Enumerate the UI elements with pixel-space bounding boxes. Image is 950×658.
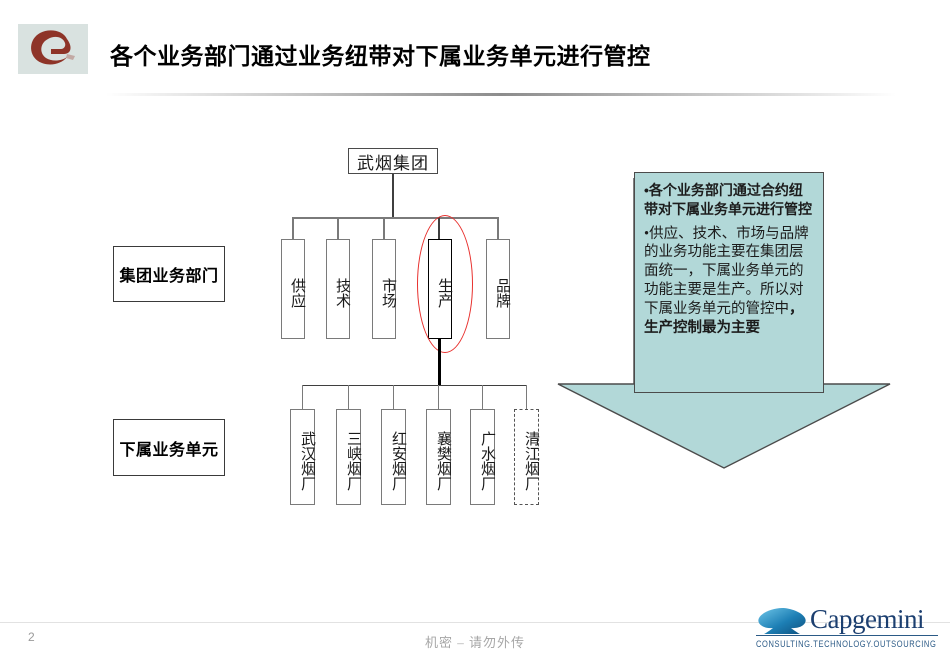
- org-node-jishu[interactable]: 技术: [326, 239, 350, 339]
- connector-drop-jishu: [337, 217, 339, 239]
- callout-bullet-2: •供应、技术、市场与品牌的业务功能主要在集团层面统一，下属业务单元的功能主要是生…: [644, 225, 814, 338]
- capgemini-logo-rule: [756, 635, 938, 636]
- capgemini-spade-icon: [754, 606, 810, 636]
- connector-level1-bus: [292, 217, 498, 219]
- org-node-xiangfan[interactable]: 襄樊烟厂: [426, 409, 451, 505]
- capgemini-footer-logo: Capgemini CONSULTING.TECHNOLOGY.OUTSOURC…: [754, 606, 940, 652]
- connector-drop-gongying: [292, 217, 294, 239]
- header-divider: [106, 93, 896, 96]
- org-node-wuhan[interactable]: 武汉烟厂: [290, 409, 315, 505]
- org-node-guangshui[interactable]: 广水烟厂: [470, 409, 495, 505]
- connector-drop-xiangfan: [438, 385, 439, 409]
- org-node-gongying[interactable]: 供应: [281, 239, 305, 339]
- org-node-sanxia[interactable]: 三峡烟厂: [336, 409, 361, 505]
- connector-level2-bus: [302, 385, 527, 386]
- org-node-shichang[interactable]: 市场: [372, 239, 396, 339]
- org-node-shengchan[interactable]: 生产: [428, 239, 452, 339]
- connector-drop-pinpai: [497, 217, 499, 239]
- org-node-root[interactable]: 武烟集团: [348, 148, 438, 174]
- connector-drop-qingjiang: [526, 385, 527, 409]
- org-node-hongan[interactable]: 红安烟厂: [381, 409, 406, 505]
- org-node-pinpai[interactable]: 品牌: [486, 239, 510, 339]
- connector-drop-sanxia: [348, 385, 349, 409]
- connector-drop-guangshui: [482, 385, 483, 409]
- row-label-business-units[interactable]: 下属业务单元: [113, 419, 225, 476]
- page-title: 各个业务部门通过业务纽带对下属业务单元进行管控: [110, 37, 651, 71]
- callout-text-box: •各个业务部门通过合约纽带对下属业务单元进行管控 •供应、技术、市场与品牌的业务…: [634, 172, 824, 393]
- connector-root-stem: [392, 174, 394, 218]
- connector-drop-shengchan: [438, 217, 440, 239]
- connector-drop-hongan: [393, 385, 394, 409]
- connector-drop-wuhan: [302, 385, 303, 409]
- callout-bullet-1: •各个业务部门通过合约纽带对下属业务单元进行管控: [644, 181, 814, 219]
- connector-drop-shichang: [383, 217, 385, 239]
- capgemini-wordmark: Capgemini: [810, 604, 924, 635]
- row-label-group-departments[interactable]: 集团业务部门: [113, 246, 225, 302]
- capgemini-tagline: CONSULTING.TECHNOLOGY.OUTSOURCING: [756, 638, 936, 649]
- callout-bullet-2-head: •供应、技术、市场与品牌的业务功能主要在集团层面统一，下属业务单元的功能主要是生…: [644, 226, 809, 317]
- connector-shengchan-stem: [438, 339, 441, 386]
- capgemini-e-logo: [18, 24, 88, 74]
- org-node-qingjiang[interactable]: 清江烟厂: [514, 409, 539, 505]
